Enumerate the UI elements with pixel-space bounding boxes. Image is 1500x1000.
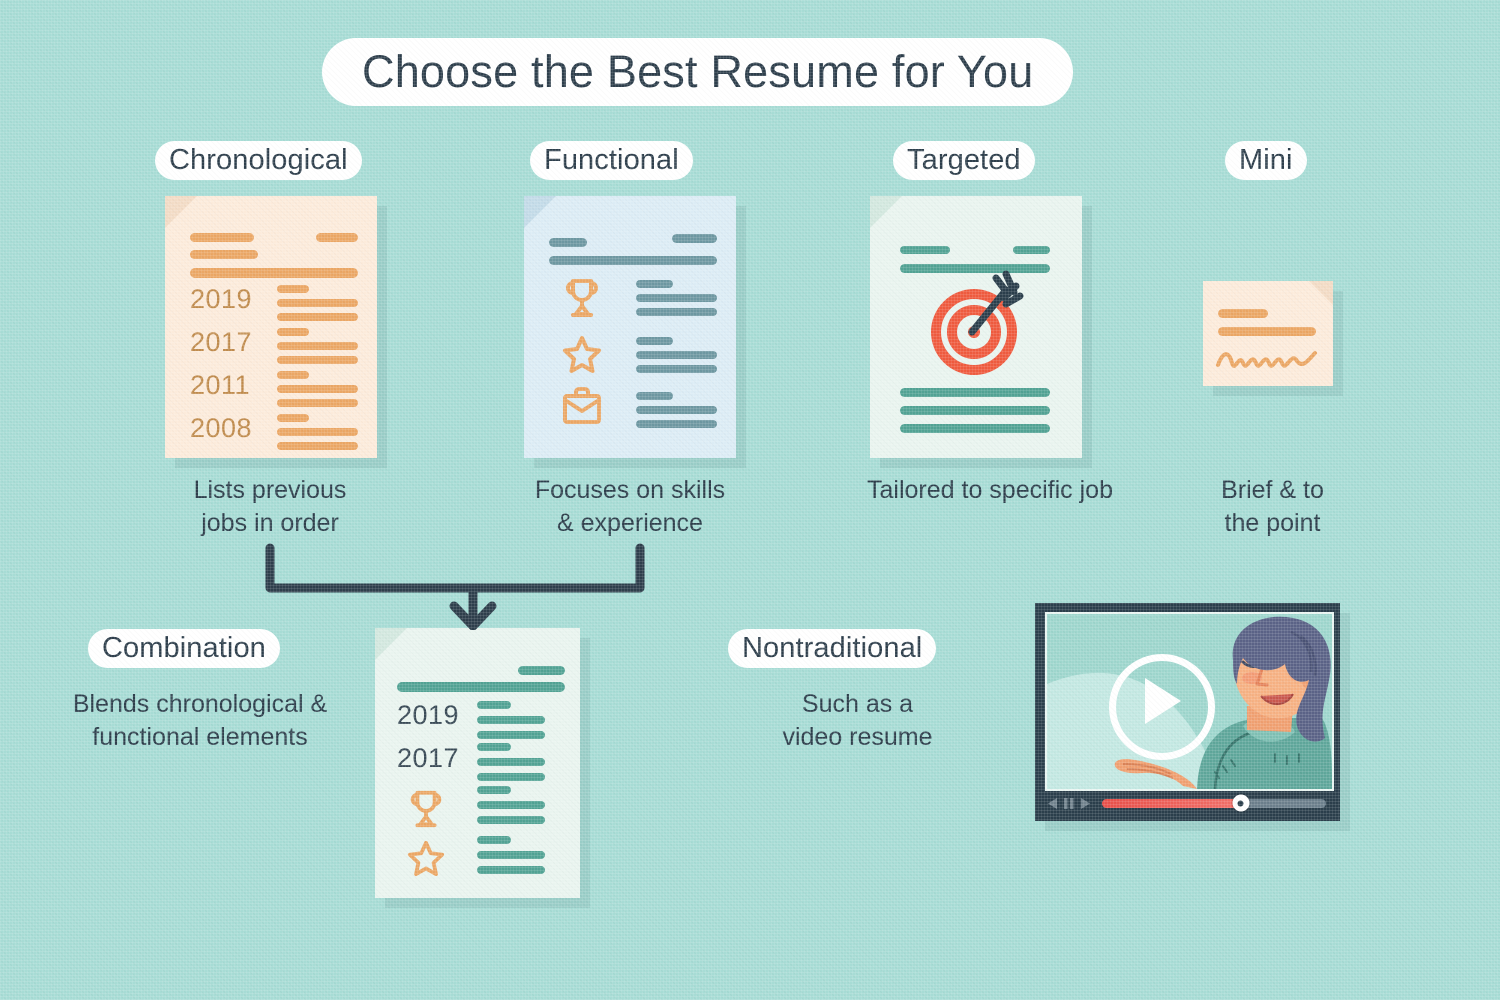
document-mini: [1203, 281, 1333, 386]
star-icon: [407, 839, 445, 877]
video-player[interactable]: [1035, 603, 1340, 821]
doc-line: [477, 716, 545, 724]
page-fold-corner-icon: [165, 196, 197, 228]
doc-line: [277, 442, 358, 450]
doc-line: [277, 428, 358, 436]
doc-line: [477, 851, 545, 859]
rewind-icon[interactable]: [1045, 797, 1058, 810]
page-fold-corner-icon: [375, 628, 407, 660]
doc-line: [477, 731, 545, 739]
document-targeted: [870, 196, 1082, 458]
doc-line: [1013, 246, 1050, 254]
pause-icon[interactable]: [1063, 797, 1075, 810]
play-triangle-icon[interactable]: [1145, 678, 1181, 724]
trophy-icon: [405, 788, 447, 830]
doc-line: [549, 238, 587, 247]
star-icon: [562, 334, 602, 374]
caption-combination: Blends chronological & functional elemen…: [35, 688, 365, 754]
doc-line: [477, 836, 511, 844]
signature-squiggle-icon: [1215, 343, 1321, 375]
doc-line: [190, 233, 254, 242]
doc-line: [636, 294, 717, 302]
doc-line: [636, 308, 717, 316]
doc-line: [636, 392, 673, 400]
video-progress-fill: [1102, 799, 1241, 808]
doc-line: [277, 299, 358, 307]
doc-line: [900, 424, 1050, 433]
doc-line: [316, 233, 358, 242]
page-title: Choose the Best Resume for You: [322, 38, 1073, 106]
doc-line: [636, 365, 717, 373]
page-fold-corner-icon: [870, 196, 902, 228]
year-label: 2019: [397, 702, 459, 729]
trophy-icon: [560, 276, 604, 320]
doc-line: [277, 342, 358, 350]
doc-line: [549, 256, 717, 265]
doc-line: [1218, 309, 1268, 318]
caption-nontraditional: Such as a video resume: [735, 688, 980, 754]
video-controls[interactable]: [1045, 793, 1330, 813]
doc-line: [190, 250, 258, 259]
caption-chronological: Lists previous jobs in order: [140, 474, 400, 540]
doc-line: [636, 406, 717, 414]
video-progress-knob[interactable]: [1232, 795, 1249, 812]
doc-line: [518, 666, 565, 675]
doc-line: [277, 371, 309, 379]
caption-functional: Focuses on skills & experience: [500, 474, 760, 540]
year-label: 2011: [190, 372, 250, 399]
doc-line: [277, 385, 358, 393]
doc-line: [397, 682, 565, 692]
doc-line: [900, 388, 1050, 397]
fast-forward-icon[interactable]: [1080, 797, 1093, 810]
document-chronological: 2019 2017 2011 2008: [165, 196, 377, 458]
doc-line: [277, 356, 358, 364]
category-label-targeted: Targeted: [893, 141, 1035, 180]
doc-line: [636, 280, 673, 288]
document-functional: [524, 196, 736, 458]
doc-line: [1218, 327, 1316, 336]
year-label: 2019: [190, 286, 252, 313]
document-combination: 2019 2017: [375, 628, 580, 898]
caption-mini: Brief & to the point: [1180, 474, 1365, 540]
page-fold-corner-icon: [1309, 281, 1333, 305]
video-progress-bar[interactable]: [1102, 799, 1326, 808]
doc-line: [477, 773, 545, 781]
doc-line: [277, 313, 358, 321]
merge-connector-arrow: [255, 540, 655, 630]
doc-line: [190, 268, 358, 278]
doc-line: [477, 701, 511, 709]
doc-line: [477, 866, 545, 874]
doc-line: [477, 786, 511, 794]
category-label-nontraditional: Nontraditional: [728, 629, 936, 668]
year-label: 2008: [190, 415, 252, 442]
year-label: 2017: [397, 745, 459, 772]
category-label-mini: Mini: [1225, 141, 1307, 180]
doc-line: [672, 234, 717, 243]
doc-line: [477, 816, 545, 824]
page-fold-corner-icon: [524, 196, 556, 228]
doc-line: [277, 414, 309, 422]
arrow-icon: [960, 268, 1030, 348]
doc-line: [636, 351, 717, 359]
briefcase-icon: [560, 386, 604, 428]
doc-line: [636, 337, 673, 345]
category-label-chronological: Chronological: [155, 141, 362, 180]
category-label-functional: Functional: [530, 141, 693, 180]
doc-line: [900, 406, 1050, 415]
doc-line: [277, 285, 309, 293]
doc-line: [277, 399, 358, 407]
doc-line: [477, 758, 545, 766]
video-screen[interactable]: [1045, 612, 1334, 791]
caption-targeted: Tailored to specific job: [840, 474, 1140, 507]
year-label: 2017: [190, 329, 252, 356]
doc-line: [900, 246, 950, 254]
category-label-combination: Combination: [88, 629, 280, 668]
doc-line: [636, 420, 717, 428]
doc-line: [477, 743, 511, 751]
doc-line: [477, 801, 545, 809]
doc-line: [277, 328, 309, 336]
